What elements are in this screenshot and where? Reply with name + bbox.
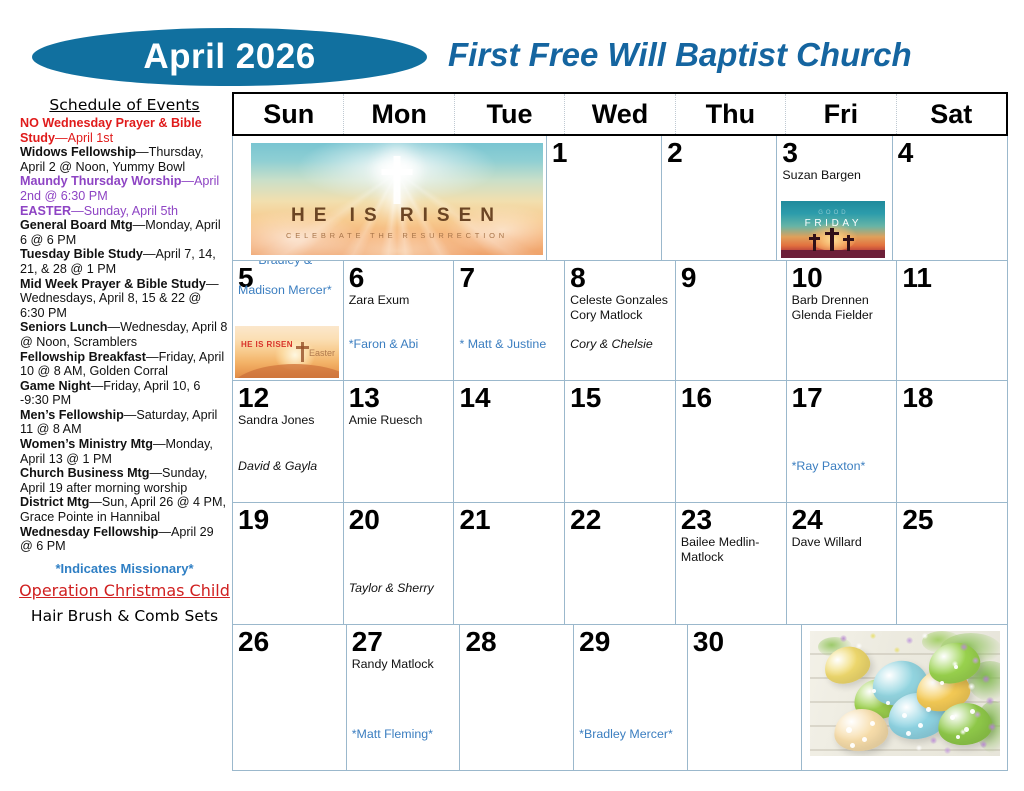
anniversary-entry: Cory & Chelsie [570,337,671,352]
day-number: 16 [681,383,781,413]
day-number: 10 [792,263,892,293]
ground-decoration [781,250,885,258]
egg-dot-decoration [846,727,852,733]
day-number: 21 [459,505,559,535]
day-number: 11 [902,263,1002,293]
hill-decoration [235,364,339,378]
calendar-week-row: 5*Bradley & Madison Mercer*HE IS RISENEa… [233,261,1007,381]
missionary-name: * Matt & Justine [459,337,560,352]
schedule-item-label: Wednesday Fellowship [20,525,158,539]
flower-decoration [986,697,994,705]
flower-decoration [840,635,847,642]
calendar-day-cell[interactable]: 12Sandra JonesDavid & Gayla [233,381,344,502]
day-number: 12 [238,383,338,413]
schedule-item-label: General Board Mtg [20,218,133,232]
calendar-day-cell[interactable]: 9 [676,261,787,380]
birthday-entry: Bailee Medlin-Matlock [681,535,781,565]
schedule-item: Church Business Mtg—Sunday, April 19 aft… [18,466,231,495]
schedule-item: Game Night—Friday, April 10, 6 -9:30 PM [18,379,231,408]
schedule-item: Widows Fellowship—Thursday, April 2 @ No… [18,145,231,174]
day-number: 14 [459,383,559,413]
birthday-entry: Dave Willard [792,535,892,550]
day-number: 23 [681,505,781,535]
cross-icon [830,228,834,251]
egg-dot-decoration [870,721,875,726]
missionary-name: *Matt Fleming* [352,727,456,742]
calendar-day-cell[interactable]: 6Zara Exum*Faron & Abi [344,261,455,380]
egg-dot-decoration [956,735,960,739]
day-of-week-header-row: SunMonTueWedThuFriSat [232,92,1008,136]
good-friday-image: GOODFRIDAY [781,201,885,258]
anniversary-entry: David & Gayla [238,459,339,474]
schedule-sidebar: Schedule of Events NO Wednesday Prayer &… [18,96,231,776]
calendar-day-cell[interactable]: 28 [460,625,574,770]
day-number: 19 [238,505,338,535]
calendar-day-cell[interactable]: 8Celeste GonzalesCory MatlockCory & Chel… [565,261,676,380]
day-number: 4 [898,138,1002,168]
he-is-risen-text: HE IS RISEN [251,205,543,227]
calendar-day-cell[interactable]: 14 [454,381,565,502]
calendar-day-cell[interactable]: 26 [233,625,347,770]
calendar-week-row: 12Sandra JonesDavid & Gayla13Amie Ruesch… [233,381,1007,503]
day-number: 1 [552,138,656,168]
day-number: 22 [570,505,670,535]
flower-decoration [894,647,900,653]
schedule-item-label: Women’s Ministry Mtg [20,437,153,451]
day-number: 26 [238,627,341,657]
day-header-sun: Sun [234,94,344,134]
schedule-item: EASTER—Sunday, April 5th [18,204,231,219]
birthday-entry: Amie Ruesch [349,413,449,428]
day-number: 29 [579,627,682,657]
calendar-week-row: 1920Taylor & Sherry212223Bailee Medlin-M… [233,503,1007,625]
anniversary-entry: Taylor & Sherry [349,581,450,596]
flower-decoration [982,675,990,683]
calendar: SunMonTueWedThuFriSat HE IS RISENCELEBRA… [232,92,1008,772]
calendar-day-cell[interactable]: 29*Bradley Mercer* [574,625,688,770]
flower-decoration [870,633,876,639]
day-number: 13 [349,383,449,413]
egg-dot-decoration [906,731,911,736]
day-number: 7 [459,263,559,293]
calendar-day-cell[interactable]: 16 [676,381,787,502]
calendar-day-cell[interactable]: 5*Bradley & Madison Mercer*HE IS RISENEa… [233,261,344,380]
operation-christmas-child-title: Operation Christmas Child [18,580,231,601]
he-is-risen-text: HE IS RISEN [241,340,293,349]
schedule-item: Seniors Lunch—Wednesday, April 8 @ Noon,… [18,320,231,349]
egg-dot-decoration [918,723,923,728]
schedule-item-label: Maundy Thursday Worship [20,174,181,188]
calendar-day-cell[interactable]: 1 [547,136,662,260]
day-number: 6 [349,263,449,293]
calendar-day-cell[interactable]: 2 [662,136,777,260]
egg-dot-decoration [862,737,867,742]
birthday-entry: Randy Matlock [352,657,455,672]
schedule-item-label: Game Night [20,379,91,393]
calendar-day-cell[interactable]: 13Amie Ruesch [344,381,455,502]
flower-decoration [944,747,951,754]
flower-decoration [952,661,958,667]
calendar-day-cell[interactable]: 27Randy Matlock*Matt Fleming* [347,625,461,770]
flower-decoration [960,643,968,651]
calendar-art-cell[interactable] [802,625,1007,770]
calendar-day-cell[interactable]: 19 [233,503,344,624]
calendar-day-cell[interactable]: 20Taylor & Sherry [344,503,455,624]
calendar-grid: HE IS RISENCELEBRATE THE RESURRECTION123… [232,136,1008,771]
flower-decoration [980,741,987,748]
page-header: April 2026 First Free Will Baptist Churc… [0,0,1024,92]
flower-decoration [916,745,922,751]
schedule-item-label: Seniors Lunch [20,320,107,334]
day-header-fri: Fri [786,94,896,134]
birthday-entry: Zara Exum [349,293,449,308]
calendar-week-row: HE IS RISENCELEBRATE THE RESURRECTION123… [233,136,1007,261]
calendar-day-cell[interactable]: 17*Ray Paxton* [787,381,898,502]
birthday-entry: Sandra Jones [238,413,338,428]
schedule-item: Men’s Fellowship—Saturday, April 11 @ 8 … [18,408,231,437]
calendar-week-row: 2627Randy Matlock*Matt Fleming*2829*Brad… [233,625,1007,770]
flower-decoration [930,737,937,744]
egg-dot-decoration [950,715,955,720]
calendar-day-cell[interactable]: 15 [565,381,676,502]
good-text: GOOD [781,210,885,216]
schedule-item-label: Men’s Fellowship [20,408,124,422]
flower-decoration [856,643,862,649]
day-number: 3 [782,138,886,168]
day-header-mon: Mon [344,94,454,134]
cross-icon [394,156,401,204]
celebrate-resurrection-text: CELEBRATE THE RESURRECTION [251,231,543,240]
calendar-day-cell[interactable]: 24Dave Willard [787,503,898,624]
friday-text: FRIDAY [781,218,885,229]
flower-decoration [974,711,981,718]
month-title-banner: April 2026 [32,28,427,86]
day-number: 17 [792,383,892,413]
calendar-art-cell[interactable]: HE IS RISENCELEBRATE THE RESURRECTION [233,136,547,260]
schedule-item: Wednesday Fellowship—April 29 @ 6 PM [18,525,231,554]
calendar-day-cell[interactable]: 25 [897,503,1007,624]
schedule-item-label: Mid Week Prayer & Bible Study [20,277,206,291]
day-number: 24 [792,505,892,535]
egg-dot-decoration [926,707,931,712]
schedule-item: District Mtg—Sun, April 26 @ 4 PM, Grace… [18,495,231,524]
day-number: 20 [349,505,449,535]
schedule-item-label: District Mtg [20,495,89,509]
day-number: 18 [902,383,1002,413]
easter-eggs-photo [810,631,1000,756]
flower-decoration [972,657,979,664]
calendar-day-cell[interactable]: 18 [897,381,1007,502]
day-number: 28 [465,627,568,657]
schedule-item-detail: —April 1st [55,131,113,145]
flower-decoration [968,683,975,690]
egg-dot-decoration [886,701,890,705]
birthday-entry: Barb Drennen [792,293,892,308]
flower-decoration [988,723,996,731]
operation-christmas-child-item: Hair Brush & Comb Sets [18,605,231,627]
day-number: 2 [667,138,771,168]
egg-dot-decoration [940,681,944,685]
day-number: 9 [681,263,781,293]
schedule-item-label: Tuesday Bible Study [20,247,143,261]
day-number: 25 [902,505,1002,535]
egg-dot-decoration [850,743,855,748]
calendar-day-cell[interactable]: 7* Matt & Justine [454,261,565,380]
schedule-item: Maundy Thursday Worship—April 2nd @ 6:30… [18,174,231,203]
birthday-entry: Celeste Gonzales [570,293,670,308]
day-number: 8 [570,263,670,293]
day-number: 27 [352,627,455,657]
calendar-day-cell[interactable]: 30 [688,625,802,770]
schedule-item: Mid Week Prayer & Bible Study—Wednesdays… [18,277,231,321]
calendar-day-cell[interactable]: 10Barb DrennenGlenda Fielder [787,261,898,380]
flower-decoration [922,633,928,639]
calendar-day-cell[interactable]: 23Bailee Medlin-Matlock [676,503,787,624]
cross-icon [301,342,304,362]
schedule-item-label: Fellowship Breakfast [20,350,146,364]
missionary-name: *Bradley Mercer* [579,727,683,742]
flower-decoration [906,637,913,644]
birthday-entry: Cory Matlock [570,308,670,323]
easter-text: Easter [309,348,335,358]
missionary-name: *Faron & Abi [349,337,450,352]
day-header-thu: Thu [676,94,786,134]
day-header-tue: Tue [455,94,565,134]
church-name-heading: First Free Will Baptist Church [448,36,912,74]
schedule-title: Schedule of Events [18,96,231,116]
birthday-entry: Suzan Bargen [782,168,886,183]
calendar-day-cell[interactable]: 3Suzan BargenGOODFRIDAY [777,136,892,260]
schedule-item-label: Widows Fellowship [20,145,136,159]
schedule-item-detail: —Sunday, April 5th [71,204,178,218]
day-number: 30 [693,627,796,657]
egg-dot-decoration [872,689,876,693]
schedule-item-label: EASTER [20,204,71,218]
day-number: 15 [570,383,670,413]
page-title: April 2026 [143,37,315,77]
flower-decoration [960,729,966,735]
schedule-list: NO Wednesday Prayer & Bible Study—April … [18,116,231,554]
day-header-wed: Wed [565,94,675,134]
cross-icon [813,234,816,251]
cross-icon [847,235,850,251]
egg-dot-decoration [902,713,907,718]
calendar-day-cell[interactable]: 22 [565,503,676,624]
birthday-entry: Glenda Fielder [792,308,892,323]
missionary-name: *Ray Paxton* [792,459,893,474]
missionary-legend: *Indicates Missionary* [18,561,231,577]
schedule-item: General Board Mtg—Monday, April 6 @ 6 PM [18,218,231,247]
calendar-day-cell[interactable]: 4 [893,136,1007,260]
schedule-item: Tuesday Bible Study—April 7, 14, 21, & 2… [18,247,231,276]
schedule-item: Fellowship Breakfast—Friday, April 10 @ … [18,350,231,379]
easter-sunrise-image: HE IS RISENEaster [235,326,339,378]
day-header-sat: Sat [897,94,1006,134]
schedule-item: NO Wednesday Prayer & Bible Study—April … [18,116,231,145]
calendar-day-cell[interactable]: 21 [454,503,565,624]
schedule-item-label: Church Business Mtg [20,466,149,480]
he-is-risen-banner-image: HE IS RISENCELEBRATE THE RESURRECTION [251,143,543,255]
calendar-day-cell[interactable]: 11 [897,261,1007,380]
schedule-item: Women’s Ministry Mtg—Monday, April 13 @ … [18,437,231,466]
